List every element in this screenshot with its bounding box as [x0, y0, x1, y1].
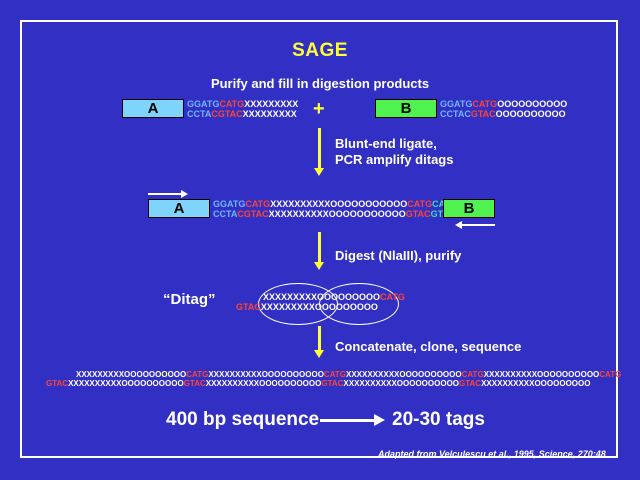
ligated-block-b: B — [443, 199, 495, 218]
seq-ditag-bot-seg-1: XXXXXXXXX — [261, 302, 315, 312]
seq-cat-top-seg-0: XXXXXXXXXOOOOOOOOOO — [76, 370, 186, 379]
primer-arrow-forward-head — [181, 190, 188, 198]
seq-ditag-top-seg-1: OOOOOOOOO — [317, 292, 380, 302]
seq-cat-top-seg-1: CATG — [186, 370, 208, 379]
seq-lig-top-seg-3: OOOOOOOOOOO — [330, 199, 407, 209]
seq-a-top-seg-0: GGATG — [187, 99, 219, 109]
seq-lig-top-seg-2: XXXXXXXXXX — [270, 199, 330, 209]
seq-lig-bot-seg-3: OOOOOOOOOOO — [329, 209, 406, 219]
ligated-block-a: A — [148, 199, 210, 218]
seq-b-bot-seg-2: OOOOOOOOOO — [496, 109, 566, 119]
sage-slide: SAGE Purify and fill in digestion produc… — [0, 0, 640, 480]
seq-cat-bot-seg-4: GTAC — [321, 379, 343, 388]
seq-b-bot-seg-1: GTAC — [471, 109, 496, 119]
seq-cat-bot-seg-2: GTAC — [184, 379, 206, 388]
seq-ditag-top: XXXXXXXXXOOOOOOOOOCATG — [263, 292, 405, 302]
seq-b-bot-seg-0: CCTAC — [440, 109, 471, 119]
seq-cat-bot-seg-6: GTAC — [459, 379, 481, 388]
seq-lig-top-seg-0: GGATG — [213, 199, 245, 209]
seq-ditag-bot-seg-2: OOOOOOOOO — [315, 302, 378, 312]
plus-sign: + — [313, 98, 325, 121]
seq-lig-bot-seg-1: CGTAC — [237, 209, 268, 219]
adapter-block-a: A — [122, 99, 184, 118]
seq-ligated-top: GGATGCATGXXXXXXXXXXOOOOOOOOOOOCATGCATCC — [213, 199, 463, 209]
seq-cat-top-seg-2: XXXXXXXXXXOOOOOOOOOO — [208, 370, 324, 379]
seq-b-top: GGATGCATGOOOOOOOOOO — [440, 99, 567, 109]
primer-arrow-forward-shaft — [148, 193, 182, 195]
page-title: SAGE — [0, 40, 640, 62]
seq-b-top-seg-0: GGATG — [440, 99, 472, 109]
seq-a-bot-seg-2: XXXXXXXXX — [243, 109, 297, 119]
flow-arrow-1-head — [314, 168, 324, 176]
seq-a-top-seg-1: CATG — [219, 99, 244, 109]
flow-arrow-2-shaft — [318, 232, 321, 264]
step-label-ligate: Blunt-end ligate, PCR amplify ditags — [335, 136, 453, 168]
seq-cat-bot-seg-5: XXXXXXXXXXOOOOOOOOOO — [343, 379, 459, 388]
seq-cat-top-seg-3: CATG — [324, 370, 346, 379]
seq-ligated-bottom: CCTACGTACXXXXXXXXXXOOOOOOOOOOOGTACGTAGG — [213, 209, 463, 219]
seq-lig-bot-seg-2: XXXXXXXXXX — [269, 209, 329, 219]
seq-cat-bot-seg-1: XXXXXXXXXXOOOOOOOOOO — [68, 379, 184, 388]
seq-a-top-seg-2: XXXXXXXXX — [244, 99, 298, 109]
seq-cat-top-seg-7: CATG — [599, 370, 621, 379]
flow-arrow-1-shaft — [318, 128, 321, 170]
seq-a-bot-seg-1: CGTAC — [211, 109, 242, 119]
seq-lig-bot-seg-0: CCTA — [213, 209, 237, 219]
seq-ditag-bottom: GTACXXXXXXXXXOOOOOOOOO — [236, 302, 378, 312]
summary-left-text: 400 bp sequence — [166, 409, 319, 431]
adapter-block-b: B — [375, 99, 437, 118]
seq-lig-top-seg-4: CATG — [407, 199, 432, 209]
seq-cat-bot-seg-0: GTAC — [46, 379, 68, 388]
summary-arrow-head — [374, 414, 385, 426]
step-label-purify: Purify and fill in digestion products — [0, 76, 640, 92]
seq-concatemer-bottom: GTACXXXXXXXXXXOOOOOOOOOOGTACXXXXXXXXXXOO… — [46, 379, 590, 388]
seq-a-bottom: CCTACGTACXXXXXXXXX — [187, 109, 297, 119]
step-label-concatenate: Concatenate, clone, sequence — [335, 339, 521, 355]
seq-b-top-seg-2: OOOOOOOOOO — [497, 99, 567, 109]
seq-a-top: GGATGCATGXXXXXXXXX — [187, 99, 298, 109]
seq-ditag-top-seg-2: CATG — [380, 292, 405, 302]
primer-arrow-reverse-shaft — [461, 224, 495, 226]
seq-b-top-seg-1: CATG — [472, 99, 497, 109]
seq-cat-top-seg-6: XXXXXXXXXXOOOOOOOOOO — [484, 370, 600, 379]
seq-cat-bot-seg-7: XXXXXXXXXXOOOOOOOOO — [481, 379, 590, 388]
flow-arrow-3-head — [314, 350, 324, 358]
step-label-digest: Digest (NlaIII), purify — [335, 248, 461, 264]
flow-arrow-3-shaft — [318, 326, 321, 352]
seq-cat-top-seg-5: CATG — [462, 370, 484, 379]
summary-right-text: 20-30 tags — [392, 409, 485, 431]
citation-text: Adapted from Velculescu et al., 1995, Sc… — [378, 449, 606, 459]
seq-concatemer-top: XXXXXXXXXOOOOOOOOOOCATGXXXXXXXXXXOOOOOOO… — [76, 370, 621, 379]
primer-arrow-reverse-head — [455, 221, 462, 229]
flow-arrow-2-head — [314, 262, 324, 270]
seq-ditag-top-seg-0: XXXXXXXXX — [263, 292, 317, 302]
summary-arrow-shaft — [320, 419, 375, 422]
seq-cat-top-seg-4: XXXXXXXXXXOOOOOOOOOO — [346, 370, 462, 379]
seq-lig-top-seg-1: CATG — [245, 199, 270, 209]
seq-ditag-bot-seg-0: GTAC — [236, 302, 261, 312]
seq-cat-bot-seg-3: XXXXXXXXXXOOOOOOOOOO — [206, 379, 322, 388]
seq-b-bottom: CCTACGTACOOOOOOOOOO — [440, 109, 566, 119]
seq-lig-bot-seg-4: GTAC — [406, 209, 431, 219]
ditag-label: “Ditag” — [163, 291, 216, 308]
seq-a-bot-seg-0: CCTA — [187, 109, 211, 119]
